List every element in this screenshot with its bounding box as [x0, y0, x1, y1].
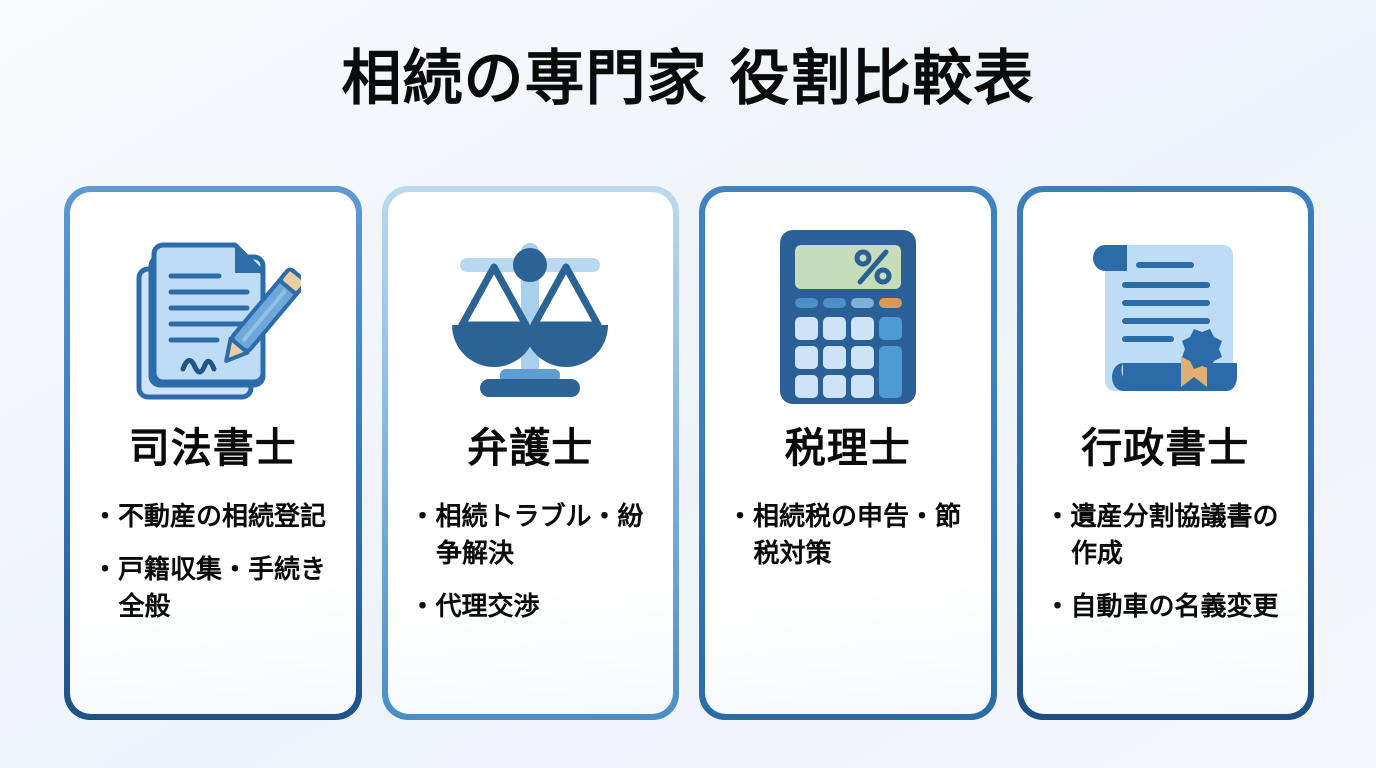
card-judicial-scrivener[interactable]: 司法書士 ・不動産の相続登記 ・戸籍収集・手続き全般	[64, 186, 362, 720]
card-tax-accountant[interactable]: 税理士 ・相続税の申告・節税対策	[699, 186, 997, 720]
card-inner: 税理士 ・相続税の申告・節税対策	[705, 192, 991, 714]
comparison-card-grid: 司法書士 ・不動産の相続登記 ・戸籍収集・手続き全般	[64, 186, 1314, 720]
card-inner: 弁護士 ・相続トラブル・紛争解決 ・代理交渉	[388, 192, 674, 714]
card-administrative-scrivener[interactable]: 行政書士 ・遺産分割協議書の作成 ・自動車の名義変更	[1017, 186, 1315, 720]
list-item: ・自動車の名義変更	[1045, 589, 1287, 626]
page-title: 相続の専門家 役割比較表	[0, 48, 1376, 111]
card-lawyer[interactable]: 弁護士 ・相続トラブル・紛争解決 ・代理交渉	[382, 186, 680, 720]
list-item: ・相続トラブル・紛争解決	[410, 499, 652, 573]
list-item: ・不動産の相続登記	[92, 499, 334, 536]
list-item: ・代理交渉	[410, 589, 652, 626]
card-title: 行政書士	[1081, 426, 1249, 471]
certificate-scroll-icon	[1081, 222, 1249, 412]
list-item: ・遺産分割協議書の作成	[1045, 499, 1287, 573]
list-item: ・相続税の申告・節税対策	[727, 499, 969, 573]
list-item: ・戸籍収集・手続き全般	[92, 552, 334, 626]
documents-with-pen-icon	[125, 222, 301, 412]
calculator-icon	[778, 222, 918, 412]
balance-scale-icon	[442, 222, 618, 412]
card-bullet-list: ・相続トラブル・紛争解決 ・代理交渉	[404, 499, 658, 626]
card-bullet-list: ・不動産の相続登記 ・戸籍収集・手続き全般	[86, 499, 340, 626]
card-title: 司法書士	[129, 426, 297, 471]
card-bullet-list: ・相続税の申告・節税対策	[721, 499, 975, 573]
card-inner: 司法書士 ・不動産の相続登記 ・戸籍収集・手続き全般	[70, 192, 356, 714]
card-inner: 行政書士 ・遺産分割協議書の作成 ・自動車の名義変更	[1023, 192, 1309, 714]
card-title: 税理士	[785, 426, 911, 471]
card-bullet-list: ・遺産分割協議書の作成 ・自動車の名義変更	[1039, 499, 1293, 626]
card-title: 弁護士	[467, 426, 593, 471]
